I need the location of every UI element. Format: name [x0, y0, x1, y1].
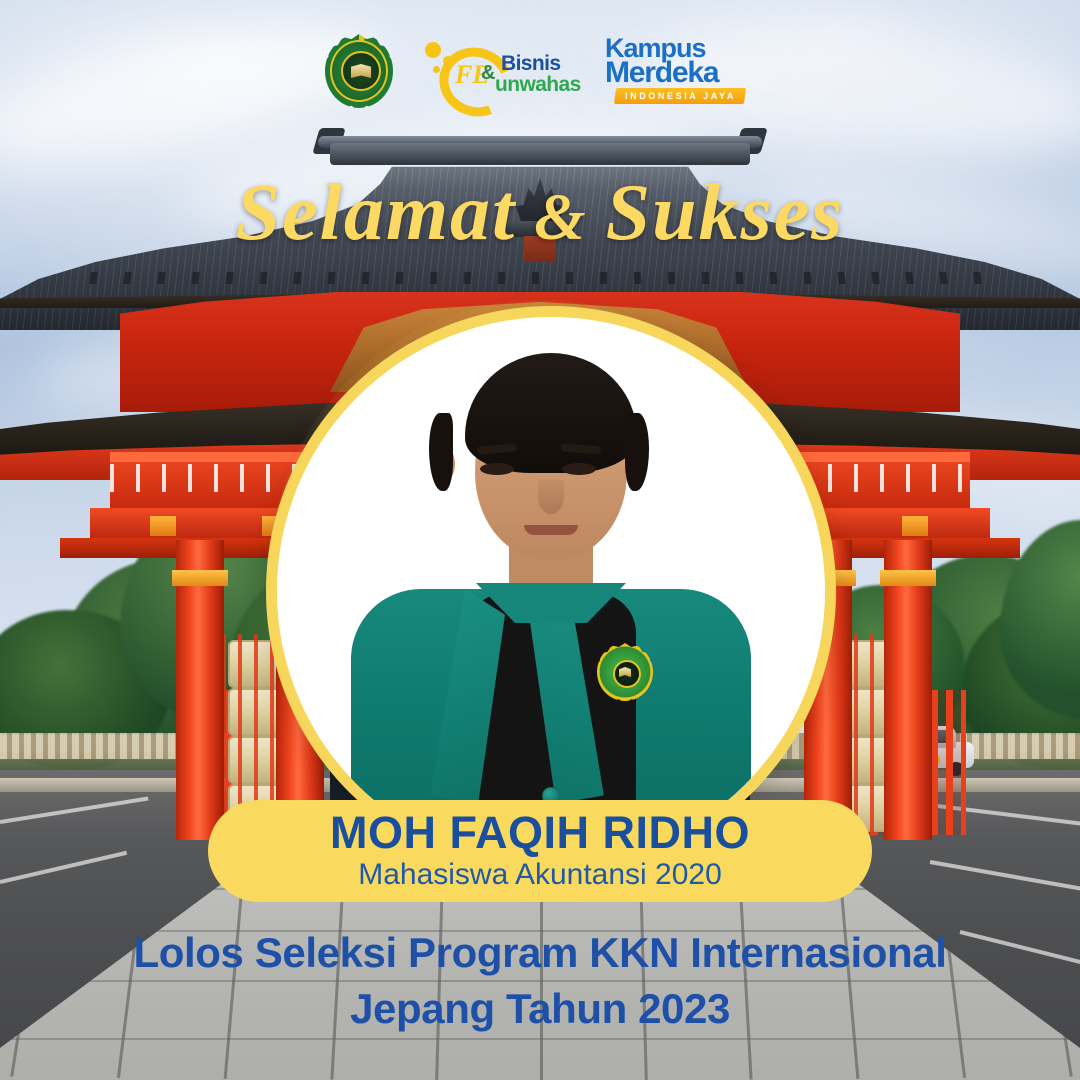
- unwahas-seal-logo: [325, 34, 393, 108]
- eave-decoration: [89, 272, 991, 284]
- kampus-merdeka-logo: Kampus Merdeka INDONESIA JAYA: [605, 36, 755, 106]
- hair-side: [625, 413, 649, 491]
- headline-word-left: Selamat: [236, 169, 517, 257]
- nose: [538, 480, 564, 514]
- book-icon: [351, 64, 371, 78]
- student-program: Mahasiswa Akuntansi 2020: [358, 858, 722, 892]
- kampus-merdeka-ribbon: INDONESIA JAYA: [614, 88, 746, 104]
- eye: [562, 463, 596, 475]
- dot-shape: [425, 42, 441, 58]
- name-banner: MOH FAQIH RIDHO Mahasiswa Akuntansi 2020: [208, 800, 872, 902]
- bracket: [150, 516, 176, 536]
- dot-shape: [433, 66, 440, 73]
- fe-unwahas-label: unwahas: [495, 73, 581, 97]
- headline-selamat-sukses: Selamat&Sukses: [0, 168, 1080, 259]
- blazer-university-emblem: [597, 643, 653, 701]
- temple-column: [176, 540, 224, 840]
- poster-canvas: FE & Bisnis unwahas Kampus Merdeka INDON…: [0, 0, 1080, 1080]
- mouth: [524, 525, 578, 535]
- hair-side: [429, 413, 453, 491]
- fe-ampersand: &: [481, 62, 495, 85]
- seal-center: [341, 51, 381, 91]
- student-portrait-circle: [266, 306, 836, 876]
- upper-roof: [330, 143, 750, 165]
- caption-line-1: Lolos Seleksi Program KKN Internasional: [0, 925, 1080, 981]
- fe-bisnis-unwahas-logo: FE & Bisnis unwahas: [419, 40, 579, 102]
- headline-ampersand: &: [534, 181, 587, 254]
- kampus-merdeka-line2: Merdeka: [605, 59, 718, 87]
- headline-word-right: Sukses: [606, 169, 845, 257]
- kampus-merdeka-ribbon-label: INDONESIA JAYA: [625, 91, 736, 101]
- temple-column: [884, 540, 932, 840]
- caption-line-2: Jepang Tahun 2023: [0, 981, 1080, 1037]
- header-logo-row: FE & Bisnis unwahas Kampus Merdeka INDON…: [0, 28, 1080, 114]
- achievement-caption: Lolos Seleksi Program KKN Internasional …: [0, 925, 1080, 1037]
- hair: [465, 353, 637, 473]
- eye: [480, 463, 514, 475]
- bracket: [902, 516, 928, 536]
- student-name: MOH FAQIH RIDHO: [330, 810, 750, 856]
